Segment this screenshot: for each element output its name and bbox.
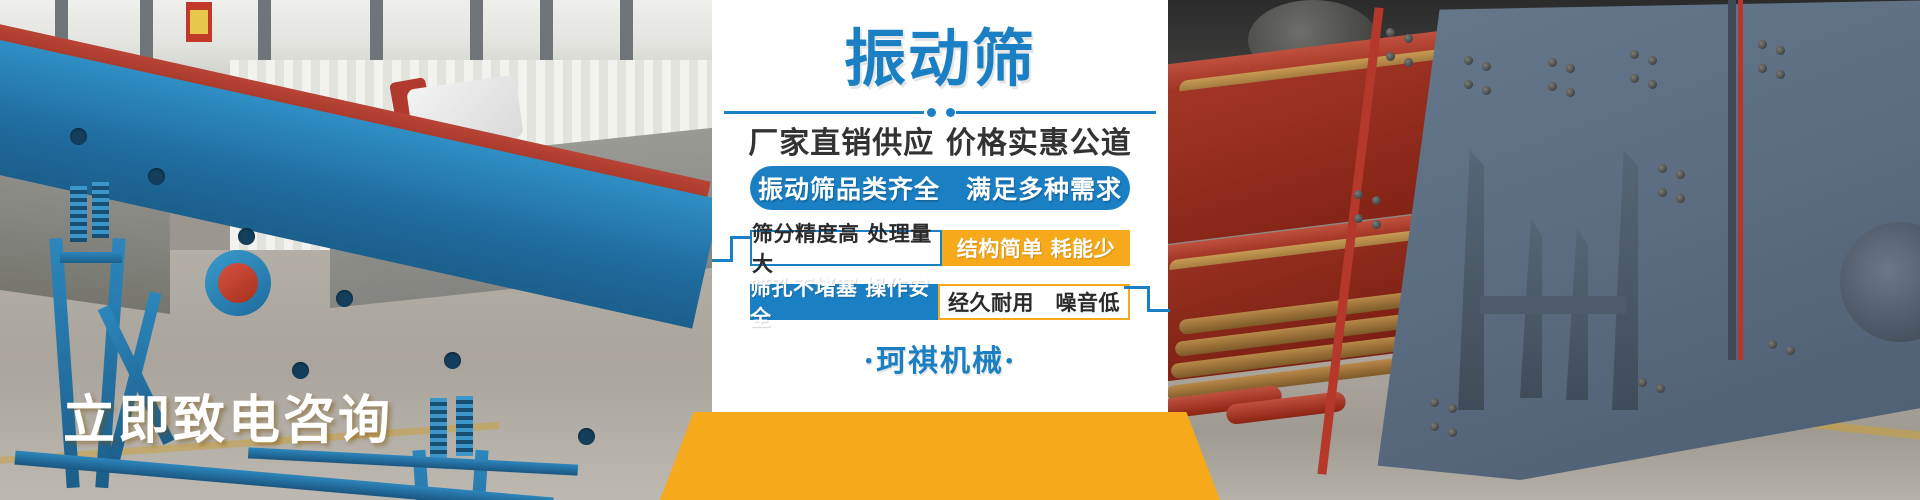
feature-cell-1a: 筛分精度高 处理量大 [750, 230, 942, 266]
bolt [1676, 194, 1685, 203]
bolt [1354, 214, 1363, 223]
highlight-pill: 振动筛品类齐全 满足多种需求 [750, 166, 1130, 210]
bolt [1630, 74, 1639, 83]
bolt [1758, 40, 1767, 49]
bolt [1354, 190, 1363, 199]
divider-line-left [724, 111, 924, 114]
divider-dot [927, 108, 936, 117]
bolt [1776, 70, 1785, 79]
feature-cell-1b: 结构简单 耗能少 [942, 230, 1130, 266]
bolt [1430, 398, 1439, 407]
bolt [1658, 188, 1667, 197]
bolt [1786, 346, 1795, 355]
bolt [1548, 82, 1557, 91]
bolt [1768, 340, 1777, 349]
bolt-hole [148, 168, 165, 185]
bolt [1386, 52, 1395, 61]
bolt [1482, 86, 1491, 95]
bolt [1648, 80, 1657, 89]
plate-seam [1728, 0, 1736, 360]
bolt [1386, 28, 1395, 37]
feature-row-1: 筛分精度高 处理量大 结构简单 耗能少 [750, 230, 1130, 266]
wall-sign [186, 2, 212, 42]
coil-spring [92, 182, 109, 238]
cta-yellow-band-inner [712, 412, 1168, 500]
product-promo-banner: 振动筛 厂家直销供应 价格实惠公道 振动筛品类齐全 满足多种需求 筛分精度高 处… [0, 0, 1920, 500]
bolt [1630, 50, 1639, 59]
bolt [1372, 220, 1381, 229]
title-divider [724, 106, 1156, 118]
divider-dot [946, 108, 955, 117]
bolt [1566, 88, 1575, 97]
brand-name: ·珂祺机械· [712, 336, 1168, 380]
bolt [1758, 64, 1767, 73]
bolt-hole [578, 428, 595, 445]
connector-elbow-right [1124, 286, 1170, 322]
bolt [1566, 64, 1575, 73]
coil-spring [70, 186, 87, 242]
right-product-photo [1168, 0, 1920, 500]
cta-text[interactable]: 立即致电咨询 [0, 378, 456, 453]
bolt [1776, 46, 1785, 55]
bolt [1548, 58, 1557, 67]
bolt [1658, 164, 1667, 173]
feature-cell-2b: 经久耐用 噪音低 [938, 284, 1130, 320]
bolt [1638, 378, 1647, 387]
bolt [1464, 80, 1473, 89]
bolt [1430, 422, 1439, 431]
cross-fin [1480, 296, 1626, 314]
bolt-hole [336, 290, 353, 307]
bolt [1648, 56, 1657, 65]
feature-cell-2a: 筛孔不堵塞 操作安全 [750, 284, 938, 320]
bolt [1404, 58, 1413, 67]
bolt-hole [70, 128, 87, 145]
page-title: 振动筛 [712, 22, 1168, 96]
bolt [1676, 170, 1685, 179]
bolt [1404, 34, 1413, 43]
bolt-hole [292, 362, 309, 379]
feature-row-2: 筛孔不堵塞 操作安全 经久耐用 噪音低 [750, 284, 1130, 320]
bolt [1448, 428, 1457, 437]
bolt [1482, 62, 1491, 71]
coil-spring [456, 396, 473, 456]
bolt [1448, 404, 1457, 413]
subtitle: 厂家直销供应 价格实惠公道 [712, 118, 1168, 162]
bolt [1656, 384, 1665, 393]
bolt-hole [238, 228, 255, 245]
divider-line-right [956, 111, 1156, 114]
bolt-hole [444, 352, 461, 369]
exciter-drum [205, 250, 271, 316]
seam-red-edge [1738, 0, 1743, 360]
bolt [1372, 196, 1381, 205]
leg-crossbar [60, 252, 122, 263]
bolt [1464, 56, 1473, 65]
